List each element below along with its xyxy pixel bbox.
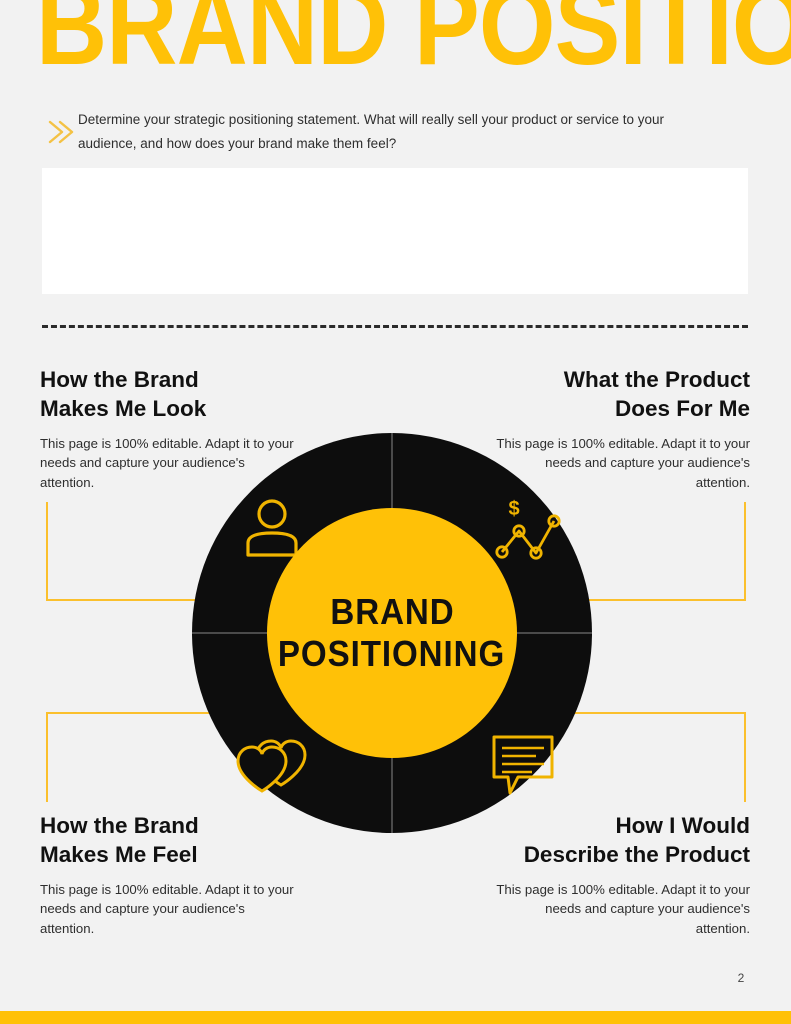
person-icon: [240, 495, 304, 559]
quadrant-body: This page is 100% editable. Adapt it to …: [492, 434, 750, 493]
dollar-line-chart-icon: $: [492, 495, 564, 567]
heading-line-2: Does For Me: [615, 396, 750, 421]
heading-line-1: How the Brand: [40, 367, 199, 392]
page-number: 2: [726, 971, 756, 985]
slide-page: BRAND POSITIONING Determine your strateg…: [0, 0, 791, 1024]
quadrant-bottom-right: How I Would Describe the Product This pa…: [492, 812, 750, 939]
subtitle-text: Determine your strategic positioning sta…: [78, 108, 678, 155]
notes-input[interactable]: [42, 168, 748, 294]
quadrant-heading: How I Would Describe the Product: [492, 812, 750, 870]
heading-line-2: Makes Me Feel: [40, 842, 198, 867]
quadrant-body: This page is 100% editable. Adapt it to …: [492, 880, 750, 939]
subtitle-row: Determine your strategic positioning sta…: [42, 108, 742, 155]
speech-bubble-icon: [488, 731, 562, 801]
page-title: BRAND POSITIONING: [36, 0, 791, 82]
heading-line-1: How I Would: [615, 813, 750, 838]
footer-accent-bar: [0, 1011, 791, 1024]
heading-line-2: Makes Me Look: [40, 396, 206, 421]
quadrant-body: This page is 100% editable. Adapt it to …: [40, 880, 298, 939]
two-hearts-icon: [234, 733, 312, 797]
brand-positioning-wheel: $ BRAND POSITIONING: [192, 433, 592, 833]
quadrant-top-right: What the Product Does For Me This page i…: [492, 366, 750, 493]
quadrant-body: This page is 100% editable. Adapt it to …: [40, 434, 298, 493]
section-divider: [42, 325, 748, 328]
hub-line-2: POSITIONING: [278, 633, 505, 675]
svg-text:$: $: [508, 498, 519, 520]
wheel-center-hub: BRAND POSITIONING: [267, 508, 517, 758]
hub-line-1: BRAND: [330, 591, 454, 633]
heading-line-2: Describe the Product: [524, 842, 750, 867]
quadrant-top-left: How the Brand Makes Me Look This page is…: [40, 366, 298, 493]
quadrant-heading: How the Brand Makes Me Feel: [40, 812, 298, 870]
quadrant-heading: How the Brand Makes Me Look: [40, 366, 298, 424]
double-chevron-right-icon: [42, 112, 78, 152]
quadrant-heading: What the Product Does For Me: [492, 366, 750, 424]
heading-line-1: How the Brand: [40, 813, 199, 838]
heading-line-1: What the Product: [564, 367, 750, 392]
quadrant-bottom-left: How the Brand Makes Me Feel This page is…: [40, 812, 298, 939]
